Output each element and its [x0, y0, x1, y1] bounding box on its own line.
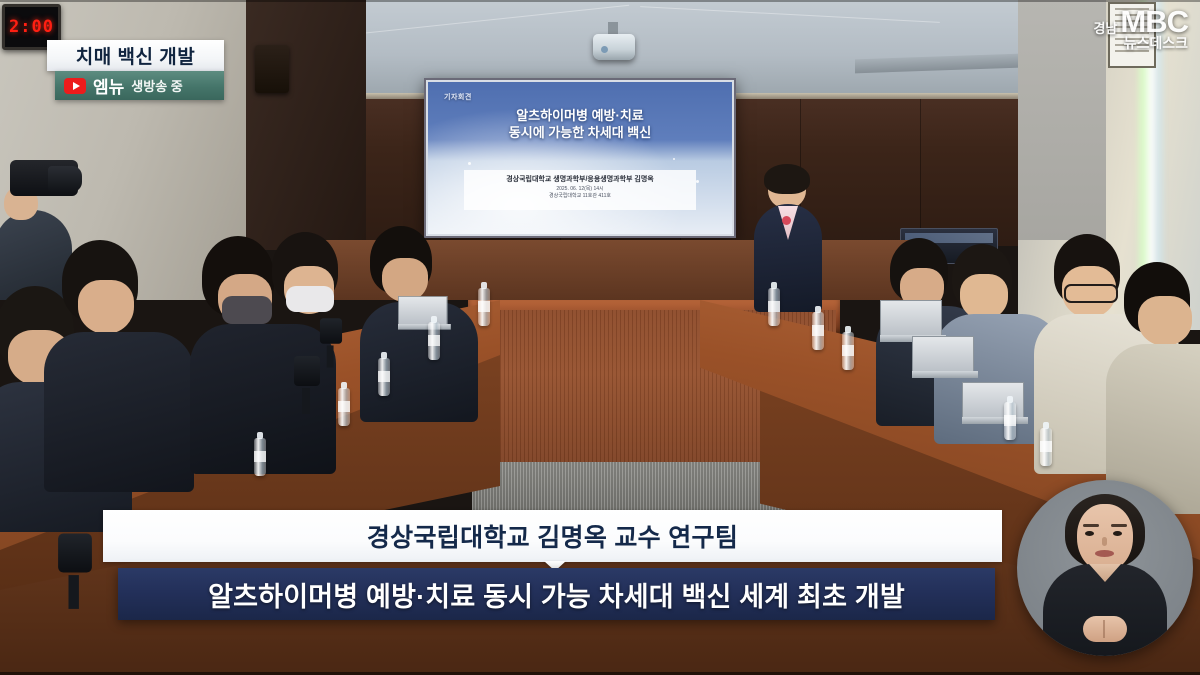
- interpreter-brow-left: [1083, 524, 1099, 527]
- clock-time: 2:00: [9, 17, 54, 37]
- projection-screen: 기자회견 알츠하이머병 예방·치료 동시에 가능한 차세대 백신 경상국립대학교…: [424, 78, 736, 238]
- slide-kicker: 기자회견: [444, 92, 472, 102]
- lower-third-top-text: 경상국립대학교 김명옥 교수 연구팀: [367, 518, 738, 554]
- interpreter-eye-right: [1113, 531, 1122, 536]
- wall-speaker: [255, 45, 289, 93]
- water-bottle: [478, 288, 490, 326]
- table-camera: [320, 318, 342, 344]
- table-camera: [294, 356, 320, 386]
- interpreter-nose: [1102, 537, 1107, 546]
- live-badge: 엠뉴 생방송 중: [55, 71, 224, 100]
- door: [246, 0, 366, 250]
- topic-chip-headline: 치매 백신 개발: [76, 42, 195, 69]
- water-bottle: [428, 322, 440, 360]
- water-bottle: [812, 312, 824, 350]
- water-bottle: [842, 332, 854, 370]
- channel-bug-program: 뉴스데스크: [1124, 36, 1188, 50]
- water-bottle: [1004, 402, 1016, 440]
- frame-edge-top: [0, 0, 1200, 2]
- slide-title-line1: 알츠하이머병 예방·치료: [428, 107, 732, 124]
- lower-third-main-text: 알츠하이머병 예방·치료 동시 가능 차세대 백신 세계 최초 개발: [208, 575, 905, 614]
- attendee-right-4: [1118, 262, 1200, 472]
- presentation-slide: 기자회견 알츠하이머병 예방·치료 동시에 가능한 차세대 백신 경상국립대학교…: [428, 82, 732, 234]
- ceiling-projector: [593, 34, 635, 60]
- channel-bug: 경남 MBC 뉴스데스크: [1093, 8, 1188, 50]
- channel-bug-region: 경남: [1093, 23, 1117, 35]
- lower-third-main-bar: 알츠하이머병 예방·치료 동시 가능 차세대 백신 세계 최초 개발: [118, 568, 995, 620]
- water-bottle: [1040, 428, 1052, 466]
- broadcast-screenshot: 기자회견 알츠하이머병 예방·치료 동시에 가능한 차세대 백신 경상국립대학교…: [0, 0, 1200, 675]
- interpreter-mouth: [1095, 550, 1114, 557]
- water-bottle: [254, 438, 266, 476]
- youtube-play-icon: [64, 78, 86, 94]
- channel-bug-region-label: 경남: [1093, 23, 1117, 35]
- interpreter-brow-right: [1111, 524, 1127, 527]
- water-bottle: [378, 358, 390, 396]
- presenter-speaker: [752, 168, 828, 318]
- live-badge-status: 생방송 중: [131, 76, 182, 95]
- water-bottle: [338, 388, 350, 426]
- slide-presenter-card: 경상국립대학교 생명과학부/응용생명과학부 김명옥 2025. 06. 12(목…: [464, 170, 696, 210]
- sign-language-interpreter-inset: [1017, 480, 1193, 656]
- channel-bug-network: MBC: [1120, 8, 1188, 36]
- water-bottle: [768, 288, 780, 326]
- attendee-left-2: [52, 240, 202, 470]
- slide-presenter: 경상국립대학교 생명과학부/응용생명과학부 김명옥: [464, 174, 696, 184]
- table-camera: [58, 534, 92, 573]
- slide-meta-place: 경상국립대학교 11호관 411호: [464, 193, 696, 200]
- live-badge-brand: 엠뉴: [93, 73, 124, 98]
- slide-meta-date: 2025. 06. 12(목) 14시: [464, 186, 696, 193]
- lower-third-top-bar: 경상국립대학교 김명옥 교수 연구팀: [103, 510, 1002, 562]
- interpreter-hands: [1083, 616, 1127, 642]
- slide-title-line2: 동시에 가능한 차세대 백신: [428, 124, 732, 141]
- interpreter-eye-left: [1085, 531, 1094, 536]
- topic-chip: 치매 백신 개발: [47, 40, 224, 71]
